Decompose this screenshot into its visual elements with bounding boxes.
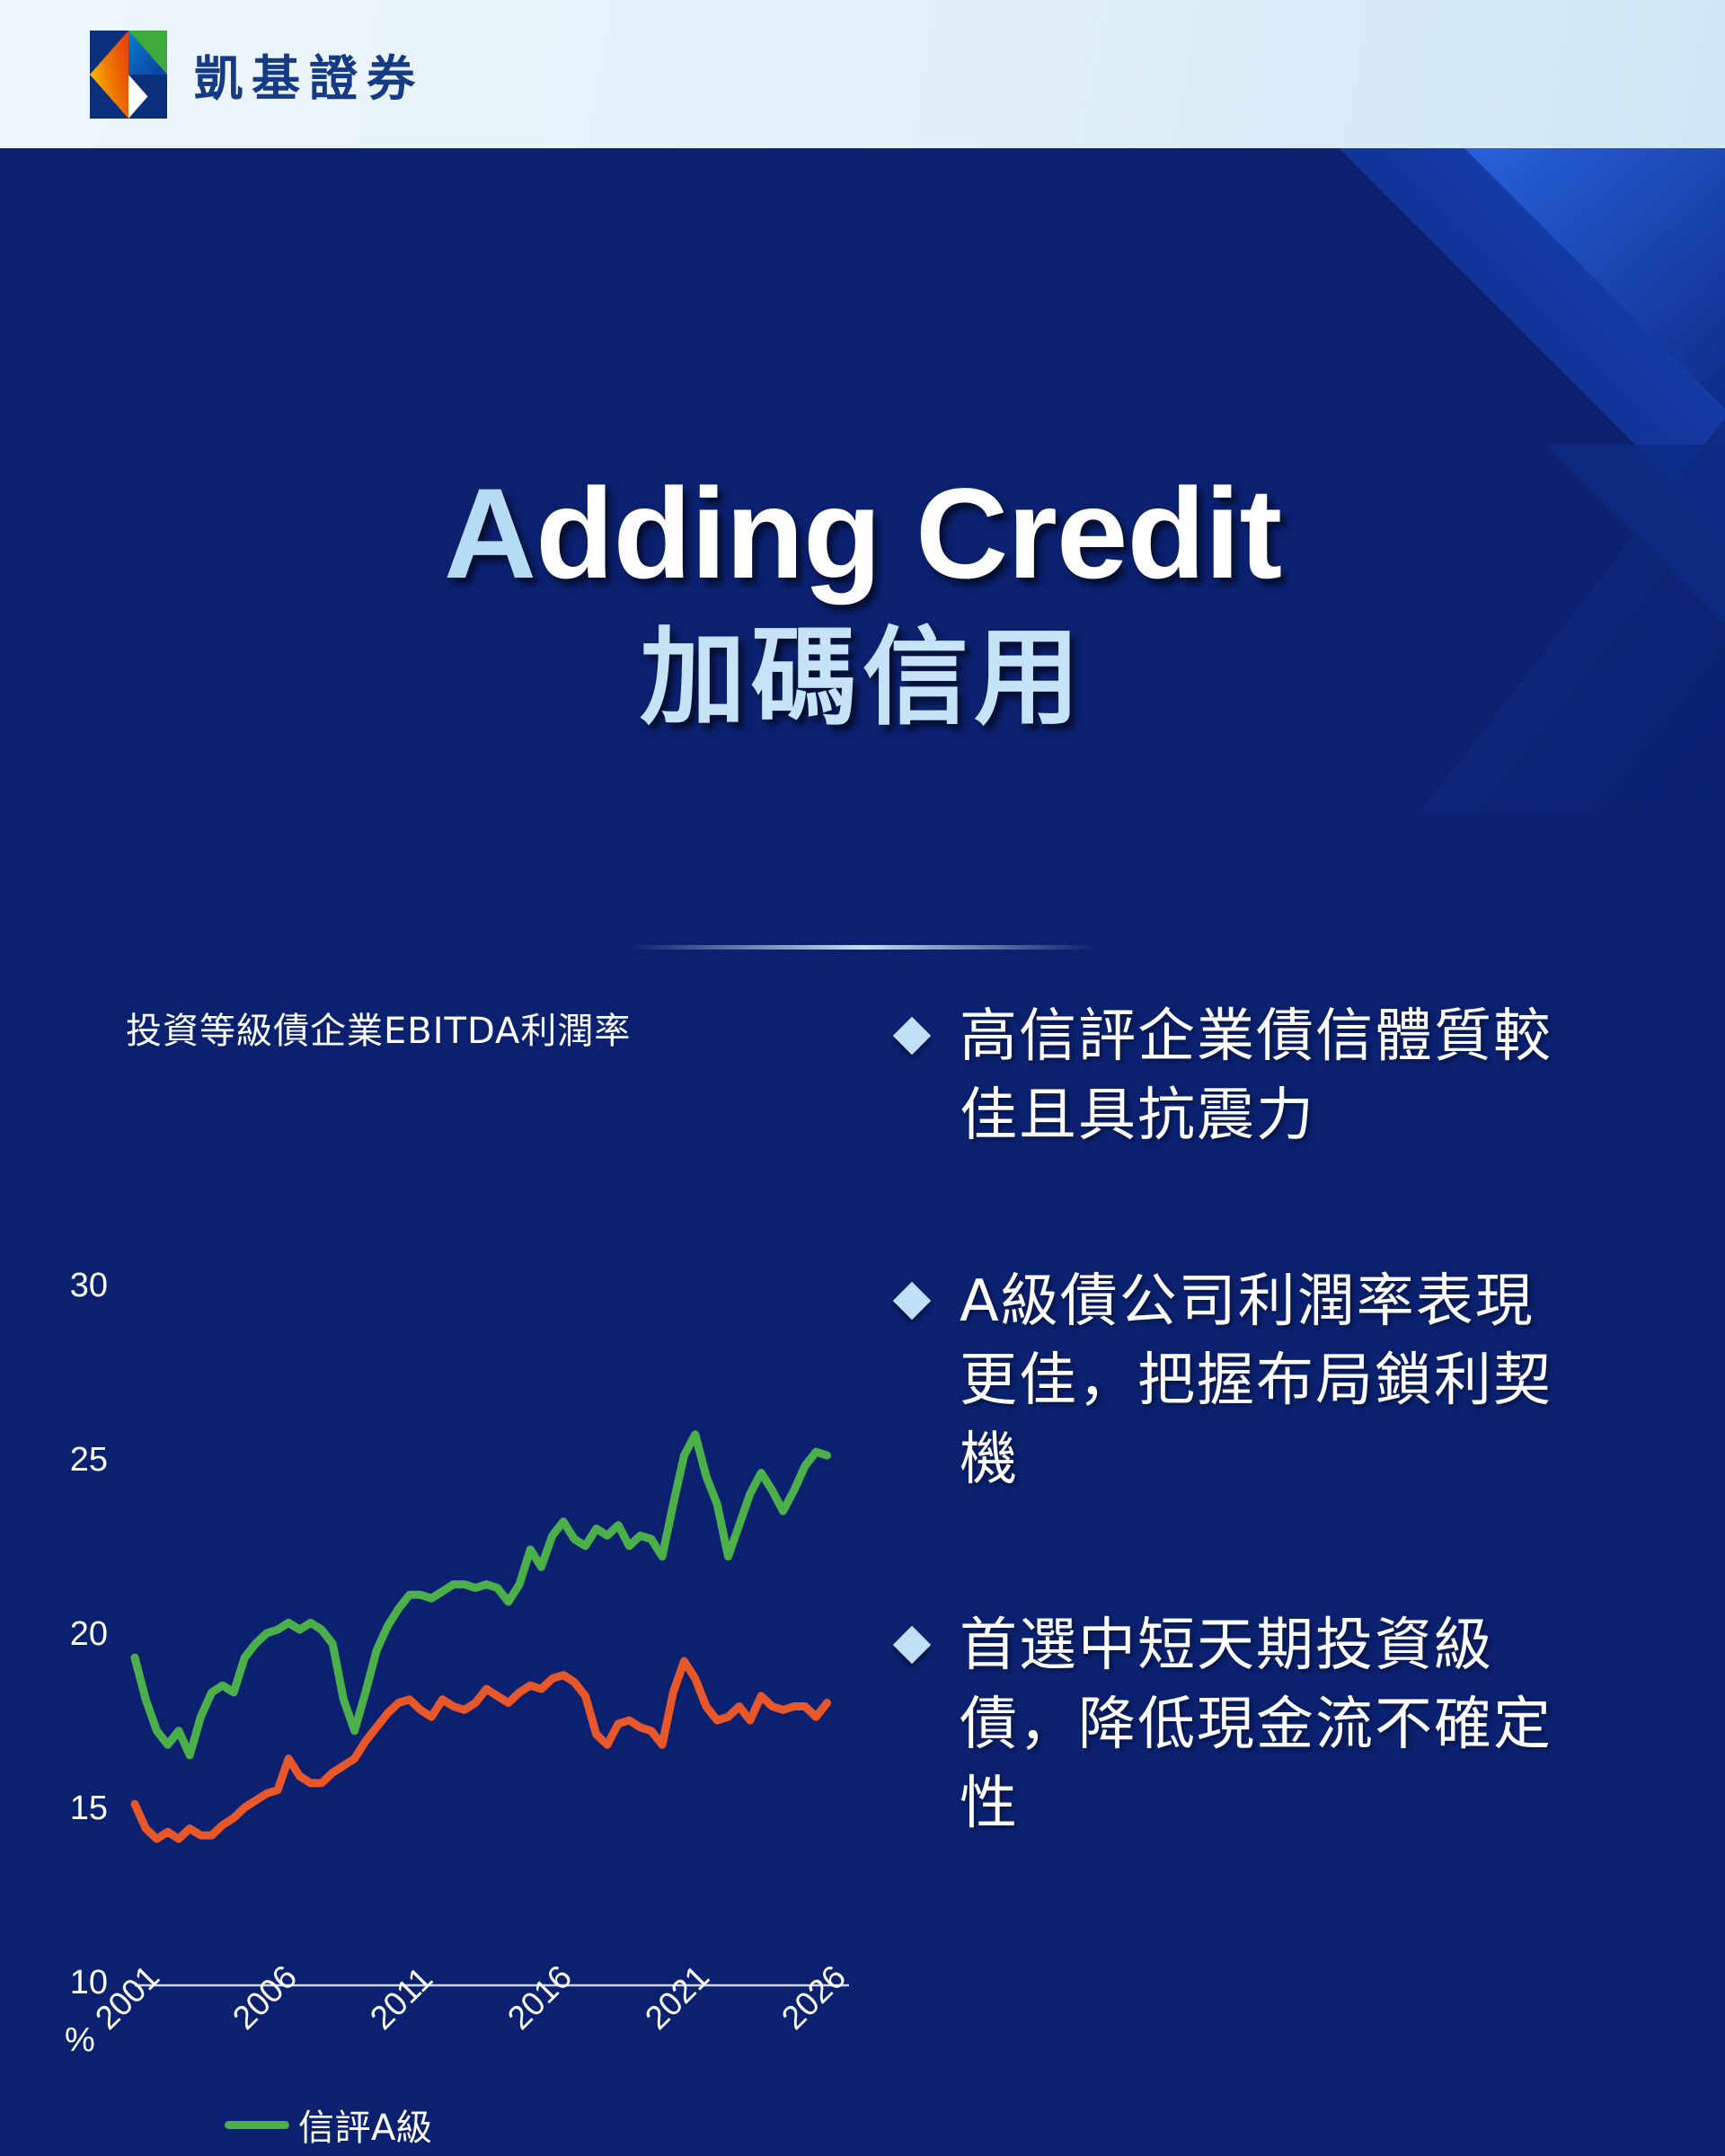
chart-y-tick-label: 20	[45, 1615, 108, 1654]
page-title-en: Adding Credit	[0, 467, 1725, 602]
brand-logo: 凱基證券	[90, 31, 424, 119]
chart-series-line	[135, 1435, 827, 1755]
bullet-list: 高信評企業債信體質較佳且具抗震力 A級債公司利潤率表現更佳，把握布局鎖利契機 首…	[898, 997, 1635, 1844]
diamond-bullet-icon	[893, 1281, 931, 1319]
chart-y-tick-label: 10	[45, 1964, 108, 2002]
title-accent-letter: A	[444, 463, 535, 605]
title-divider	[629, 945, 1096, 950]
chart-plot-area: 3025201510200120062011201620212026	[0, 984, 880, 2044]
legend-label-a: 信評A級	[298, 2099, 432, 2151]
list-item: 首選中短天期投資級債，降低現金流不確定性	[898, 1606, 1635, 1844]
diamond-bullet-icon	[893, 1625, 931, 1663]
title-rest: dding Credit	[535, 463, 1281, 605]
legend-swatch-a	[225, 2121, 289, 2129]
bullet-text: 高信評企業債信體質較佳且具抗震力	[960, 997, 1588, 1156]
chart-legend: 信評A級 信評BBB級	[225, 2093, 482, 2156]
brand-name: 凱基證券	[194, 39, 424, 110]
title-block: Adding Credit 加碼信用	[0, 467, 1725, 737]
chart-svg	[0, 984, 880, 2044]
kgi-diamond-logo-icon	[90, 31, 167, 119]
slide-root: 凱基證券	[0, 0, 1725, 2156]
chart-y-tick-label: 25	[45, 1441, 108, 1480]
chart-y-tick-label: 30	[45, 1267, 108, 1305]
diamond-bullet-icon	[893, 1017, 931, 1055]
legend-item: 信評A級	[225, 2093, 482, 2156]
chart-y-tick-label: 15	[45, 1789, 108, 1828]
header-bar: 凱基證券	[0, 0, 1725, 148]
list-item: A級債公司利潤率表現更佳，把握布局鎖利契機	[898, 1262, 1635, 1500]
chart-panel: 投資等級債企業EBITDA利潤率 % 信評A級 信評BBB級 302520151…	[0, 984, 880, 2044]
bullet-text: A級債公司利潤率表現更佳，把握布局鎖利契機	[960, 1262, 1588, 1500]
page-title-zh: 加碼信用	[0, 618, 1725, 737]
bullet-text: 首選中短天期投資級債，降低現金流不確定性	[960, 1606, 1588, 1844]
list-item: 高信評企業債信體質較佳且具抗震力	[898, 997, 1635, 1156]
